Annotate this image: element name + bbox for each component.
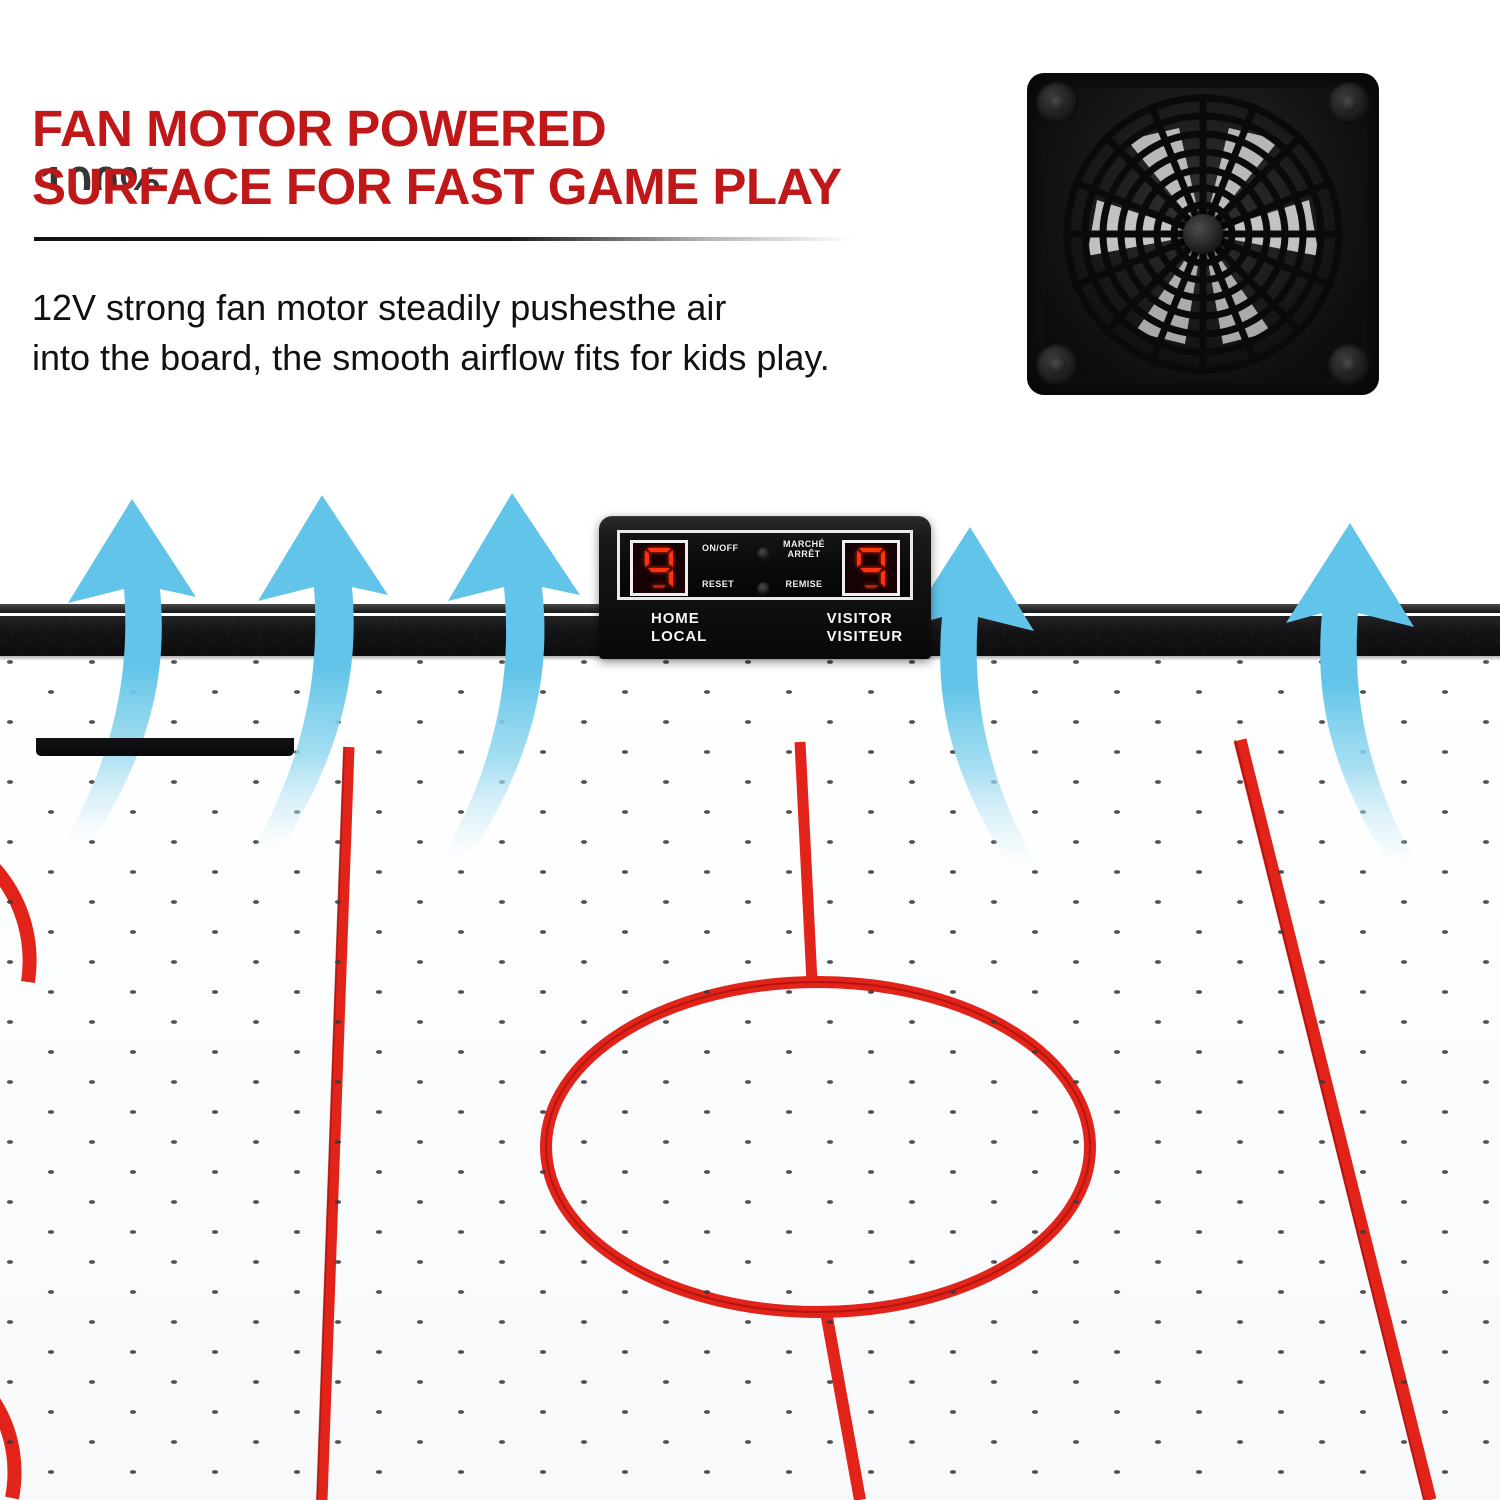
header-block: 100% .. FAN MOTOR POWERED SURFACE FOR FA…	[0, 0, 1010, 420]
fan-screw-icon	[1036, 344, 1078, 386]
reset-button[interactable]	[757, 582, 770, 595]
power-button-label-fr: MARCHÉ ARRÊT	[766, 539, 842, 559]
airflow-arrow	[250, 495, 388, 855]
description-text: 12V strong fan motor steadily pushesthe …	[32, 283, 1007, 383]
scoreboard-display-bezel: ON/OFF RESET MARCHÉ ARRÊT REMISE	[617, 530, 913, 600]
scoreboard-unit[interactable]: ON/OFF RESET MARCHÉ ARRÊT REMISE	[599, 516, 931, 659]
visitor-score-display	[842, 540, 900, 596]
button-labels-en: ON/OFF RESET	[702, 537, 762, 599]
reset-button-label-en: RESET	[702, 579, 734, 589]
airflow-arrow	[440, 493, 580, 861]
airflow-arrow	[1286, 523, 1420, 869]
power-button[interactable]	[757, 547, 770, 560]
button-labels-fr: MARCHÉ ARRÊT REMISE	[766, 537, 842, 599]
fan-housing	[1028, 74, 1378, 394]
home-score-display	[630, 540, 688, 596]
title-divider	[34, 237, 854, 241]
airflow-arrow	[62, 499, 196, 847]
team-name-labels: HOME LOCAL VISITOR VISITEUR	[617, 608, 913, 652]
visitor-team-label: VISITOR VISITEUR	[827, 610, 903, 646]
scoreboard-display-panel: ON/OFF RESET MARCHÉ ARRÊT REMISE	[620, 533, 910, 597]
home-team-label: HOME LOCAL	[651, 610, 707, 646]
fan-screw-icon	[1328, 82, 1370, 124]
fan-hub-icon	[1183, 214, 1223, 254]
fan-screw-icon	[1036, 82, 1078, 124]
reset-button-label-fr: REMISE	[766, 579, 842, 589]
fan-screw-icon	[1328, 344, 1370, 386]
product-feature-page: 100% .. FAN MOTOR POWERED SURFACE FOR FA…	[0, 0, 1500, 1500]
scoreboard-mount	[36, 738, 294, 756]
power-button-label-en: ON/OFF	[702, 543, 738, 553]
air-hockey-table-scene: ON/OFF RESET MARCHÉ ARRÊT REMISE	[0, 600, 1500, 1500]
page-title: FAN MOTOR POWERED SURFACE FOR FAST GAME …	[32, 100, 992, 216]
cooling-fan-photo	[1028, 74, 1378, 394]
